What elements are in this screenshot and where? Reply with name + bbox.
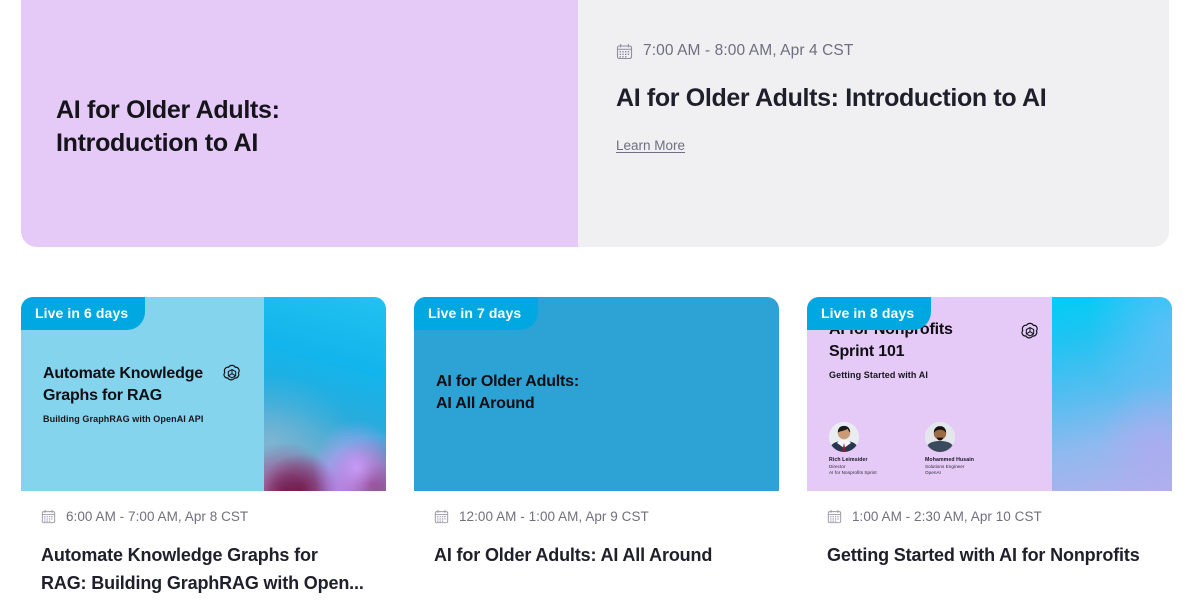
- live-badge: Live in 8 days: [807, 297, 931, 330]
- speaker-role: Solutions EngineerOpenAI: [925, 464, 1003, 477]
- gradient-cyan-magenta: [264, 297, 386, 491]
- thumbnail-gradient: [264, 297, 386, 491]
- thumbnail-subtitle: Getting Started with AI: [829, 370, 1038, 380]
- event-card-grid: Automate Knowledge Graphs for RAG Buildi…: [21, 297, 1171, 611]
- event-card-body: 1:00 AM - 2:30 AM, Apr 10 CST Getting St…: [807, 491, 1172, 591]
- speaker-name: Rich Leimsider: [829, 457, 907, 464]
- hero-artwork-title-line1: AI for Older Adults:: [56, 94, 280, 127]
- event-datetime-row: 12:00 AM - 1:00 AM, Apr 9 CST: [434, 509, 759, 524]
- hero-artwork: AI for Older Adults: Introduction to AI: [21, 0, 578, 247]
- hero-title: AI for Older Adults: Introduction to AI: [616, 83, 1129, 114]
- thumbnail-title-line2: Sprint 101: [829, 341, 1038, 363]
- calendar-icon: [616, 43, 633, 60]
- event-title: AI for Older Adults: AI All Around: [434, 541, 759, 569]
- openai-logo-icon: [221, 363, 243, 385]
- speaker-avatar: [925, 422, 955, 452]
- calendar-icon: [434, 509, 449, 524]
- hero-artwork-title-line2: Introduction to AI: [56, 127, 280, 160]
- event-card-body: 6:00 AM - 7:00 AM, Apr 8 CST Automate Kn…: [21, 491, 386, 611]
- thumbnail-gradient: [1052, 297, 1172, 491]
- event-datetime: 1:00 AM - 2:30 AM, Apr 10 CST: [852, 509, 1042, 524]
- gradient-cyan-pink-rays: [1052, 297, 1172, 491]
- thumbnail-title-line1: Automate Knowledge: [43, 363, 250, 385]
- event-title: Getting Started with AI for Nonprofits: [827, 541, 1152, 569]
- thumbnail-heading: AI for Older Adults: AI All Around: [436, 371, 765, 414]
- thumbnail-heading: Automate Knowledge Graphs for RAG Buildi…: [43, 363, 250, 424]
- live-badge: Live in 6 days: [21, 297, 145, 330]
- event-datetime-row: 6:00 AM - 7:00 AM, Apr 8 CST: [41, 509, 366, 524]
- speaker-avatar: [829, 422, 859, 452]
- hero-datetime: 7:00 AM - 8:00 AM, Apr 4 CST: [643, 42, 853, 60]
- hero-datetime-row: 7:00 AM - 8:00 AM, Apr 4 CST: [616, 42, 1129, 60]
- event-card-thumbnail: Automate Knowledge Graphs for RAG Buildi…: [21, 297, 386, 491]
- event-datetime-row: 1:00 AM - 2:30 AM, Apr 10 CST: [827, 509, 1152, 524]
- hero-featured-event[interactable]: AI for Older Adults: Introduction to AI: [21, 0, 1169, 247]
- openai-logo-icon: [1019, 321, 1041, 343]
- event-card[interactable]: Automate Knowledge Graphs for RAG Buildi…: [21, 297, 386, 611]
- event-card-thumbnail: AI for Older Adults: AI All Around Live …: [414, 297, 779, 491]
- avatar-portrait-icon: [925, 422, 955, 452]
- events-page: AI for Older Adults: Introduction to AI: [0, 0, 1192, 611]
- speaker-role: DirectorAI for Nonprofits Sprint: [829, 464, 907, 477]
- event-card-thumbnail: AI for Nonprofits Sprint 101 Getting Sta…: [807, 297, 1172, 491]
- calendar-icon: [827, 509, 842, 524]
- event-datetime: 12:00 AM - 1:00 AM, Apr 9 CST: [459, 509, 649, 524]
- avatar-portrait-icon: [829, 422, 859, 452]
- event-datetime: 6:00 AM - 7:00 AM, Apr 8 CST: [66, 509, 248, 524]
- hero-learn-more-link[interactable]: Learn More: [616, 138, 685, 153]
- event-card[interactable]: AI for Older Adults: AI All Around Live …: [414, 297, 779, 611]
- thumbnail-title-line2: AI All Around: [436, 393, 765, 415]
- thumbnail-title-line2: Graphs for RAG: [43, 385, 250, 407]
- event-card-body: 12:00 AM - 1:00 AM, Apr 9 CST AI for Old…: [414, 491, 779, 591]
- calendar-icon: [41, 509, 56, 524]
- hero-artwork-title: AI for Older Adults: Introduction to AI: [21, 94, 280, 160]
- event-card[interactable]: AI for Nonprofits Sprint 101 Getting Sta…: [807, 297, 1172, 611]
- event-title: Automate Knowledge Graphs for RAG: Build…: [41, 541, 366, 598]
- thumbnail-subtitle: Building GraphRAG with OpenAI API: [43, 414, 250, 424]
- hero-details: 7:00 AM - 8:00 AM, Apr 4 CST AI for Olde…: [578, 0, 1169, 247]
- speaker-item: Mohammed Husain Solutions EngineerOpenAI: [925, 422, 1003, 477]
- speaker-name: Mohammed Husain: [925, 457, 1003, 464]
- live-badge: Live in 7 days: [414, 297, 538, 330]
- thumbnail-title-line1: AI for Older Adults:: [436, 371, 765, 393]
- speaker-item: Rich Leimsider DirectorAI for Nonprofits…: [829, 422, 907, 477]
- speaker-list: Rich Leimsider DirectorAI for Nonprofits…: [829, 422, 1003, 477]
